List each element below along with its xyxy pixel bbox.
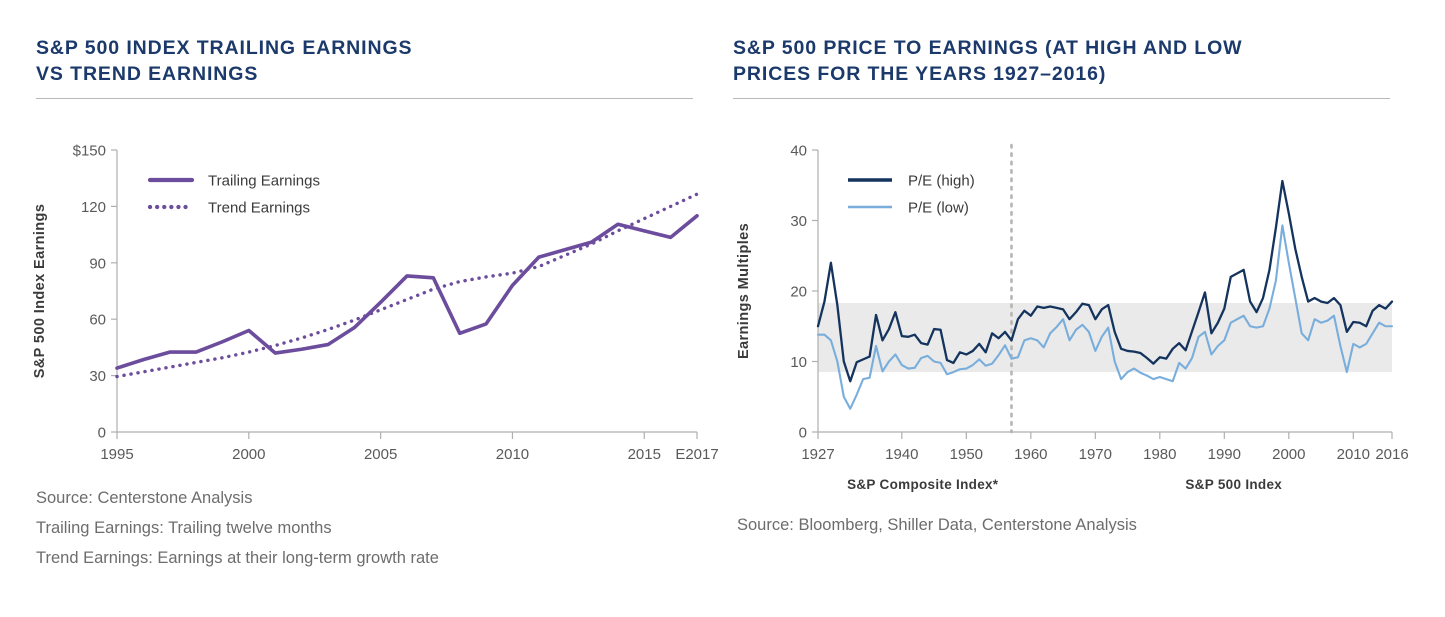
left-y-tick-label: 0 xyxy=(98,425,106,442)
right-chart-source: Source: Bloomberg, Shiller Data, Centers… xyxy=(737,516,1137,535)
right-x-tick-label: 1980 xyxy=(1143,446,1176,463)
left-x-tick-label: 1995 xyxy=(100,446,133,463)
right-chart-panel: S&P 500 Price to Earnings (at high and l… xyxy=(722,0,1445,617)
left-x-tick-label: 2000 xyxy=(232,446,265,463)
right-x-tick-label: 2016 xyxy=(1375,446,1408,463)
left-y-tick-label: 90 xyxy=(89,255,106,272)
left-y-tick-label: $150 xyxy=(73,143,106,160)
left-x-tick-label: E2017 xyxy=(675,446,718,463)
right-x-tick-label: 1990 xyxy=(1208,446,1241,463)
right-segment-label-composite: S&P Composite Index* xyxy=(847,477,999,492)
left-y-axis-title: S&P 500 Index Earnings xyxy=(32,204,48,379)
left-chart-panel: S&P 500 Index Trailing Earnings vs Trend… xyxy=(0,0,722,617)
right-y-tick-label: 10 xyxy=(790,354,807,371)
right-x-tick-label: 1970 xyxy=(1079,446,1112,463)
right-x-tick-label: 2000 xyxy=(1272,446,1305,463)
left-note-source: Source: Centerstone Analysis xyxy=(36,489,439,508)
right-x-tick-label: 1960 xyxy=(1014,446,1047,463)
left-series-trailing-earnings xyxy=(117,216,697,368)
left-chart-notes: Source: Centerstone Analysis Trailing Ea… xyxy=(36,489,439,579)
right-y-tick-label: 0 xyxy=(799,425,807,442)
right-x-tick-label: 1927 xyxy=(801,446,834,463)
left-x-tick-label: 2005 xyxy=(364,446,397,463)
left-note-trend: Trend Earnings: Earnings at their long-t… xyxy=(36,549,439,568)
left-note-trailing: Trailing Earnings: Trailing twelve month… xyxy=(36,519,439,538)
left-y-tick-label: 60 xyxy=(89,312,106,329)
right-y-tick-label: 30 xyxy=(790,213,807,230)
right-x-tick-label: 1940 xyxy=(885,446,918,463)
left-legend-label-trend: Trend Earnings xyxy=(208,200,310,217)
left-legend-label-trailing: Trailing Earnings xyxy=(208,173,320,190)
left-x-tick-label: 2010 xyxy=(496,446,529,463)
left-x-tick-label: 2015 xyxy=(628,446,661,463)
right-x-tick-label: 2010 xyxy=(1337,446,1370,463)
right-segment-label-sp500: S&P 500 Index xyxy=(1185,477,1282,492)
right-y-tick-label: 20 xyxy=(790,284,807,301)
left-y-tick-label: 120 xyxy=(81,199,106,216)
right-y-axis-title: Earnings Multiples xyxy=(736,223,752,359)
right-legend-label-pe-high: P/E (high) xyxy=(908,173,975,190)
right-legend-label-pe-low: P/E (low) xyxy=(908,200,969,217)
right-x-tick-label: 1950 xyxy=(950,446,983,463)
left-y-tick-label: 30 xyxy=(89,368,106,385)
right-y-tick-label: 40 xyxy=(790,143,807,160)
